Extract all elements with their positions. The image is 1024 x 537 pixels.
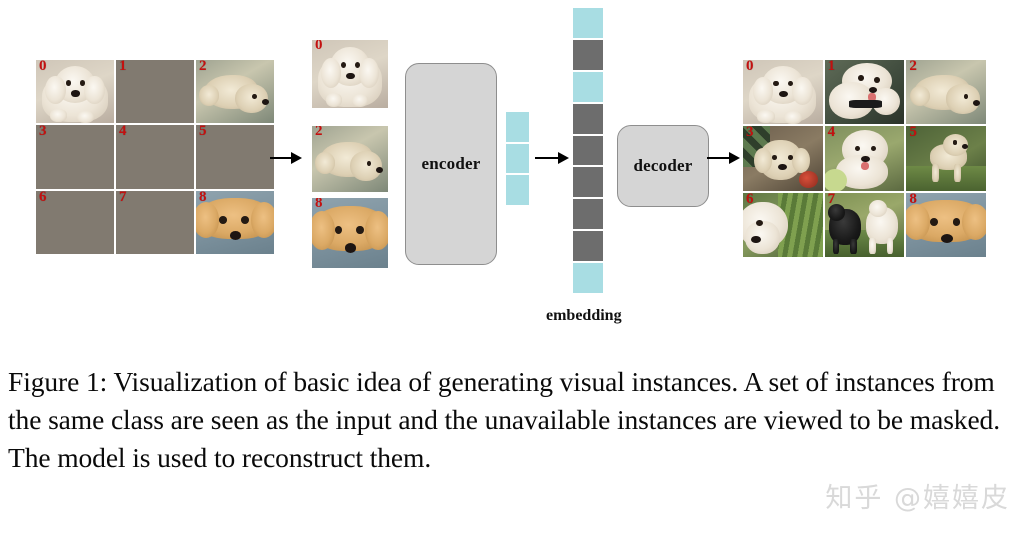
photo-detail bbox=[359, 58, 379, 88]
encoder-token-block-0 bbox=[506, 112, 529, 142]
photo-detail bbox=[849, 100, 882, 108]
photo-golden-doodle-on-blue bbox=[196, 191, 274, 254]
photo-detail bbox=[757, 110, 775, 123]
decoder-label: decoder bbox=[634, 156, 693, 176]
arrow-shaft bbox=[270, 157, 291, 159]
photo-detail bbox=[326, 93, 343, 107]
photo-detail bbox=[772, 155, 778, 160]
embedding-block-1 bbox=[573, 40, 603, 70]
cell-photo bbox=[743, 60, 823, 124]
cell-index-label: 5 bbox=[909, 126, 917, 141]
photo-detail bbox=[825, 169, 847, 191]
arrow-shaft bbox=[707, 157, 729, 159]
photo-poodle-white-indoor bbox=[312, 40, 388, 108]
photo-detail bbox=[312, 211, 335, 250]
input-grid-cell-2[interactable]: 2 bbox=[196, 60, 274, 123]
cell-index-label: 2 bbox=[199, 60, 207, 75]
photo-detail bbox=[241, 216, 249, 224]
cell-photo bbox=[906, 126, 986, 190]
encoder-token-block-2 bbox=[506, 175, 529, 205]
patch-photo bbox=[312, 126, 388, 192]
photo-doodle-with-plaid-blanket bbox=[743, 126, 823, 190]
arrow-head bbox=[558, 152, 569, 164]
photo-detail bbox=[954, 164, 961, 182]
input-grid-cell-0[interactable]: 0 bbox=[36, 60, 114, 123]
photo-detail bbox=[230, 231, 242, 240]
photo-detail bbox=[869, 200, 887, 217]
photo-detail bbox=[345, 243, 356, 253]
photo-bichon-in-garden bbox=[825, 126, 905, 190]
photo-detail bbox=[356, 226, 364, 234]
cell-index-label: 1 bbox=[119, 60, 127, 75]
photo-detail bbox=[199, 85, 219, 105]
output-grid-cell-3[interactable]: 3 bbox=[743, 126, 823, 190]
patch-index-label: 8 bbox=[315, 198, 323, 212]
cell-photo bbox=[906, 193, 986, 257]
encoder-token-column bbox=[506, 112, 529, 205]
embedding-block-2 bbox=[573, 72, 603, 102]
photo-golden-doodle-on-blue bbox=[906, 193, 986, 257]
photo-cream-dog-on-bed bbox=[312, 126, 388, 192]
embedding-block-4 bbox=[573, 136, 603, 166]
cell-photo bbox=[825, 126, 905, 190]
photo-detail bbox=[869, 87, 877, 93]
output-grid-cell-7[interactable]: 7 bbox=[825, 193, 905, 257]
photo-detail bbox=[365, 211, 388, 250]
figure-page: { "figure": { "caption": "Figure 1: Visu… bbox=[0, 0, 1024, 537]
embedding-block-5 bbox=[573, 167, 603, 197]
embedding-block-3 bbox=[573, 104, 603, 134]
cell-index-label: 3 bbox=[39, 125, 47, 140]
patch-index-label: 2 bbox=[315, 126, 323, 140]
arrow-grid-to-patches bbox=[270, 152, 302, 164]
photo-detail bbox=[355, 62, 360, 68]
photo-detail bbox=[953, 140, 958, 145]
embedding-block-7 bbox=[573, 231, 603, 261]
photo-detail bbox=[887, 238, 893, 255]
output-grid-cell-1[interactable]: 1 bbox=[825, 60, 905, 124]
photo-detail bbox=[962, 144, 968, 149]
arrow-decoder-to-output bbox=[707, 152, 740, 164]
cell-photo bbox=[196, 191, 274, 254]
photo-detail bbox=[321, 58, 341, 88]
cell-index-label: 4 bbox=[119, 125, 127, 140]
photo-detail bbox=[773, 81, 779, 87]
arrow-tokens-to-embedding bbox=[535, 152, 569, 164]
photo-detail bbox=[251, 202, 274, 237]
arrow-head bbox=[291, 152, 302, 164]
cell-photo bbox=[743, 126, 823, 190]
embedding-block-6 bbox=[573, 199, 603, 229]
photo-white-poodle-with-leash bbox=[825, 60, 905, 124]
photo-detail bbox=[376, 167, 383, 173]
photo-detail bbox=[754, 148, 772, 172]
photo-detail bbox=[850, 239, 856, 254]
input-grid-cell-5[interactable]: 5 bbox=[196, 125, 274, 188]
input-grid-cell-1[interactable]: 1 bbox=[116, 60, 194, 123]
cell-index-label: 2 bbox=[909, 60, 917, 75]
decoder-box[interactable]: decoder bbox=[617, 125, 709, 207]
photo-detail bbox=[219, 216, 227, 224]
patch-index-label: 0 bbox=[315, 40, 323, 54]
cell-photo bbox=[825, 60, 905, 124]
visible-patch-0[interactable]: 0 bbox=[312, 40, 388, 108]
encoder-token-block-1 bbox=[506, 144, 529, 174]
photo-detail bbox=[874, 77, 880, 83]
photo-detail bbox=[71, 90, 80, 96]
cell-index-label: 3 bbox=[746, 126, 754, 141]
photo-detail bbox=[792, 77, 813, 105]
input-grid-cell-3[interactable]: 3 bbox=[36, 125, 114, 188]
output-grid-cell-5[interactable]: 5 bbox=[906, 126, 986, 190]
visible-patch-2[interactable]: 2 bbox=[312, 126, 388, 192]
cell-index-label: 4 bbox=[828, 126, 836, 141]
cell-photo bbox=[196, 60, 274, 123]
cell-photo bbox=[825, 193, 905, 257]
photo-detail bbox=[779, 91, 788, 97]
cell-index-label: 6 bbox=[39, 191, 47, 206]
cell-index-label: 8 bbox=[909, 193, 917, 208]
visible-patch-8[interactable]: 8 bbox=[312, 198, 388, 268]
photo-detail bbox=[66, 80, 71, 86]
photo-detail bbox=[84, 76, 104, 104]
output-grid-cell-0[interactable]: 0 bbox=[743, 60, 823, 124]
photo-detail bbox=[745, 221, 780, 254]
patch-photo bbox=[312, 40, 388, 108]
output-reconstructed-grid: 012345678 bbox=[743, 60, 986, 257]
photo-detail bbox=[753, 77, 774, 105]
photo-detail bbox=[262, 99, 269, 105]
cell-index-label: 1 bbox=[828, 60, 836, 75]
photo-detail bbox=[792, 148, 810, 172]
cell-index-label: 7 bbox=[828, 193, 836, 208]
photo-detail bbox=[50, 109, 67, 122]
arrow-shaft bbox=[535, 157, 558, 159]
input-grid-cell-7[interactable]: 7 bbox=[116, 191, 194, 254]
encoder-label: encoder bbox=[422, 154, 481, 174]
photo-detail bbox=[252, 94, 257, 99]
photo-detail bbox=[858, 75, 864, 81]
photo-detail bbox=[346, 73, 354, 80]
output-grid-cell-6[interactable]: 6 bbox=[743, 193, 823, 257]
photo-detail bbox=[778, 164, 787, 170]
figure-caption: Figure 1: Visualization of basic idea of… bbox=[8, 363, 1016, 477]
cell-index-label: 8 bbox=[199, 191, 207, 206]
cell-index-label: 0 bbox=[746, 60, 754, 75]
zhihu-watermark: 知乎 @嬉嬉皮 bbox=[825, 476, 1010, 515]
arrow-head bbox=[729, 152, 740, 164]
embedding-column bbox=[573, 8, 603, 293]
patch-photo bbox=[312, 198, 388, 268]
cell-photo bbox=[743, 193, 823, 257]
photo-detail bbox=[756, 220, 763, 226]
output-grid-cell-8[interactable]: 8 bbox=[906, 193, 986, 257]
input-grid-cell-6[interactable]: 6 bbox=[36, 191, 114, 254]
photo-golden-doodle-on-blue bbox=[312, 198, 388, 268]
embedding-block-0 bbox=[573, 8, 603, 38]
photo-detail bbox=[941, 234, 953, 243]
cell-photo bbox=[36, 60, 114, 123]
input-grid-cell-8[interactable]: 8 bbox=[196, 191, 274, 254]
cell-index-label: 6 bbox=[746, 193, 754, 208]
photo-black-and-white-poodles bbox=[825, 193, 905, 257]
photo-cream-dog-on-bed bbox=[906, 60, 986, 124]
cell-index-label: 0 bbox=[39, 60, 47, 75]
photo-detail bbox=[315, 152, 335, 173]
photo-poodle-standing-on-grass bbox=[906, 126, 986, 190]
photo-detail bbox=[784, 111, 802, 123]
output-grid-cell-2[interactable]: 2 bbox=[906, 60, 986, 124]
photo-detail bbox=[80, 80, 85, 86]
photo-poodle-white-indoor bbox=[743, 60, 823, 124]
cell-index-label: 7 bbox=[119, 191, 127, 206]
photo-detail bbox=[833, 239, 839, 254]
encoder-box[interactable]: encoder bbox=[405, 63, 497, 265]
photo-doodle-lying-on-lawn bbox=[743, 193, 823, 257]
photo-detail bbox=[973, 100, 980, 106]
photo-cream-dog-on-bed bbox=[196, 60, 274, 123]
photo-detail bbox=[962, 204, 986, 240]
photo-detail bbox=[869, 238, 875, 255]
photo-detail bbox=[341, 62, 346, 68]
input-masked-grid: 012345678 bbox=[36, 60, 274, 254]
photo-detail bbox=[77, 111, 94, 123]
embedding-block-8 bbox=[573, 263, 603, 293]
embedding-label: embedding bbox=[546, 307, 622, 325]
output-grid-cell-4[interactable]: 4 bbox=[825, 126, 905, 190]
cell-photo bbox=[906, 60, 986, 124]
input-grid-cell-4[interactable]: 4 bbox=[116, 125, 194, 188]
photo-poodle-white-indoor bbox=[36, 60, 114, 123]
cell-index-label: 5 bbox=[199, 125, 207, 140]
photo-detail bbox=[932, 164, 939, 182]
photo-detail bbox=[45, 76, 65, 104]
photo-detail bbox=[799, 171, 818, 188]
photo-detail bbox=[788, 155, 794, 160]
